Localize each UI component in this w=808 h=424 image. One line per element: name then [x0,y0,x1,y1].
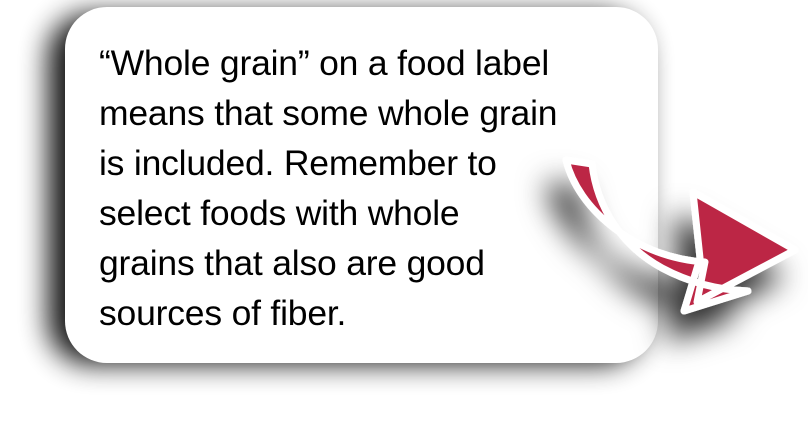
callout-body-text: “Whole grain” on a food label means that… [99,38,629,338]
callout-graphic: “Whole grain” on a food label means that… [0,0,808,424]
